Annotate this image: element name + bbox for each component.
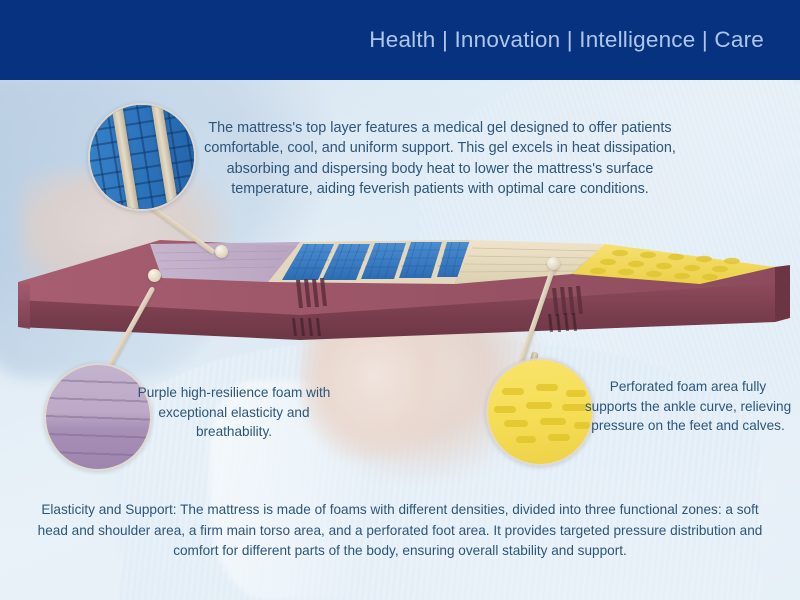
header-title: Health | Innovation | Intelligence | Car… xyxy=(369,27,764,53)
gel-description-text: The mattress's top layer features a medi… xyxy=(186,118,694,200)
gel-detail-grid xyxy=(88,103,196,211)
mattress-illustration xyxy=(0,222,800,352)
perforated-foam-description-text: Perforated foam area fully supports the … xyxy=(582,377,794,436)
footer-description-text: Elasticity and Support: The mattress is … xyxy=(28,500,772,562)
perforated-foam-detail-circle xyxy=(486,358,594,466)
gel-detail-circle xyxy=(88,103,196,211)
perforated-foam-slots xyxy=(488,360,592,464)
header-bar: Health | Innovation | Intelligence | Car… xyxy=(0,0,800,80)
purple-foam-description-text: Purple high-resilience foam with excepti… xyxy=(128,383,340,442)
infographic-page: Health | Innovation | Intelligence | Car… xyxy=(0,0,800,600)
